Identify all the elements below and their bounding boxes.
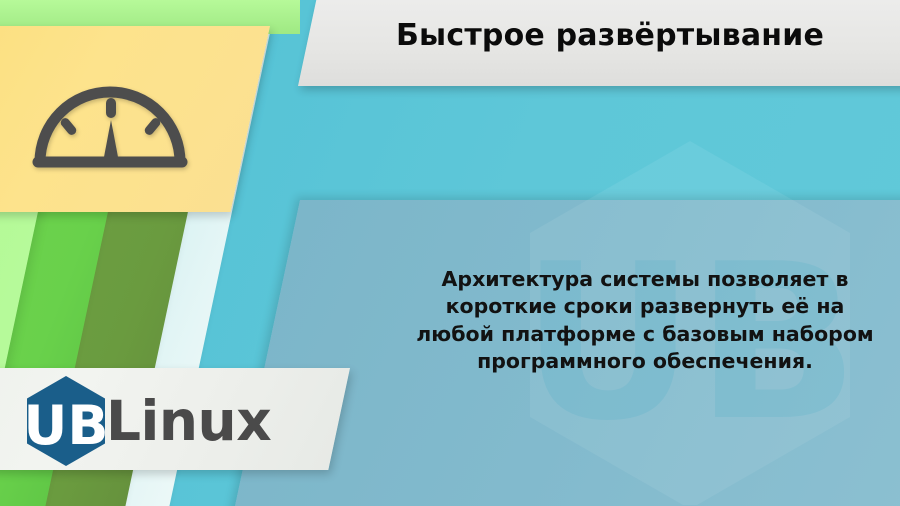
speedometer-icon [26, 62, 194, 174]
ub-mark-label: UB [24, 394, 108, 457]
logo-wordmark: Linux [106, 394, 271, 449]
body-line: Архитектура системы позволяет в [398, 266, 892, 293]
slide-title: Быстрое развёртывание [330, 18, 890, 53]
ublinux-logo: UB Linux [24, 374, 271, 468]
ub-hexagon-icon: UB [24, 374, 108, 468]
slide-canvas: UB Быстрое развёртывание Архитектура сис… [0, 0, 900, 506]
body-line: программного обеспечения. [398, 348, 892, 375]
body-line: любой платформе с базовым набором [398, 321, 892, 348]
slide-body: Архитектура системы позволяет в короткие… [398, 266, 892, 375]
body-line: короткие сроки развернуть её на [398, 293, 892, 320]
